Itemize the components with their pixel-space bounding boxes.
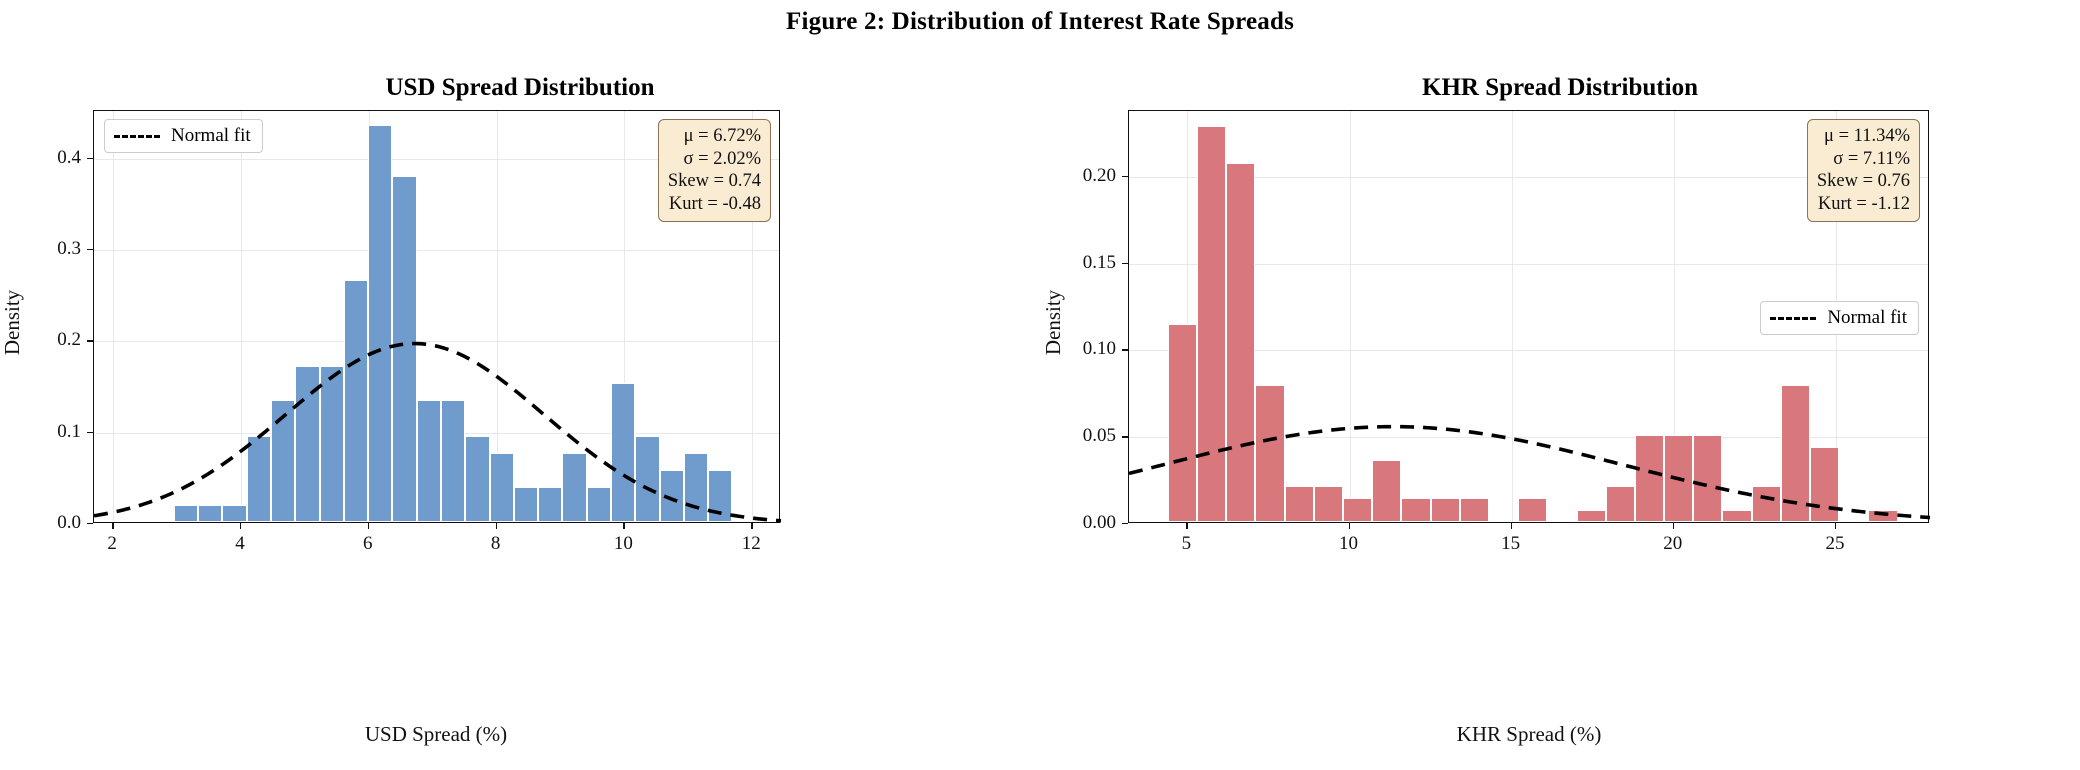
yaxis-tick-mark [1122,176,1128,177]
yaxis-tick-mark [1122,523,1128,524]
xaxis-tick-mark [1673,523,1674,529]
yaxis-label-usd: Density [0,290,25,355]
xaxis-tick-label: 20 [1663,533,1682,555]
yaxis-tick-mark [87,340,93,341]
yaxis-tick-label: 0.15 [1046,252,1116,274]
normal-fit-path [94,344,781,521]
stats-box-khr: μ = 11.34% σ = 7.11% Skew = 0.76 Kurt = … [1807,119,1920,222]
yaxis-tick-mark [87,158,93,159]
xaxis-tick-mark [1511,523,1512,529]
xaxis-tick-mark [240,523,241,529]
normal-fit-path [1129,427,1930,518]
stat-kurt: Kurt = -1.12 [1817,193,1910,216]
xaxis-tick-mark [751,523,752,529]
figure-canvas: Figure 2: Distribution of Interest Rate … [0,0,2080,770]
xaxis-label-khr: KHR Spread (%) [1457,722,1602,747]
xaxis-tick-label: 15 [1501,533,1520,555]
xaxis-label-usd: USD Spread (%) [365,722,507,747]
stat-skew: Skew = 0.76 [1817,170,1910,193]
axes-khr: Normal fit μ = 11.34% σ = 7.11% Skew = 0… [1128,110,1929,523]
legend-label: Normal fit [171,125,251,147]
xaxis-tick-mark [1835,523,1836,529]
stats-box-usd: μ = 6.72% σ = 2.02% Skew = 0.74 Kurt = -… [658,119,771,222]
yaxis-tick-label: 0.00 [1046,512,1116,534]
xaxis-tick-mark [1186,523,1187,529]
yaxis-tick-mark [1122,263,1128,264]
legend-khr[interactable]: Normal fit [1760,301,1919,335]
xaxis-tick-label: 4 [235,533,245,555]
yaxis-tick-label: 0.3 [11,238,81,260]
yaxis-tick-label: 0.20 [1046,165,1116,187]
legend-label: Normal fit [1827,307,1907,329]
stat-mu: μ = 11.34% [1817,125,1910,148]
xaxis-tick-label: 2 [107,533,117,555]
legend-dash-icon [114,135,160,138]
yaxis-tick-label: 0.4 [11,147,81,169]
xaxis-tick-label: 6 [363,533,373,555]
yaxis-tick-mark [1122,349,1128,350]
axes-usd: Normal fit μ = 6.72% σ = 2.02% Skew = 0.… [93,110,780,523]
panel-usd-title: USD Spread Distribution [0,74,1040,102]
legend-usd[interactable]: Normal fit [104,119,263,153]
xaxis-tick-label: 12 [742,533,761,555]
panel-khr-title: KHR Spread Distribution [1040,74,2080,102]
xaxis-tick-label: 5 [1182,533,1192,555]
yaxis-tick-label: 0.0 [11,512,81,534]
stat-sigma: σ = 7.11% [1817,148,1910,171]
xaxis-tick-mark [368,523,369,529]
xaxis-tick-label: 25 [1825,533,1844,555]
xaxis-tick-label: 10 [1339,533,1358,555]
yaxis-tick-mark [87,249,93,250]
yaxis-tick-label: 0.1 [11,421,81,443]
xaxis-tick-mark [496,523,497,529]
yaxis-tick-mark [1122,436,1128,437]
xaxis-tick-mark [112,523,113,529]
stat-mu: μ = 6.72% [668,125,761,148]
yaxis-tick-label: 0.05 [1046,425,1116,447]
yaxis-tick-mark [87,432,93,433]
stat-sigma: σ = 2.02% [668,148,761,171]
yaxis-label-khr: Density [1041,290,1066,355]
stat-skew: Skew = 0.74 [668,170,761,193]
stat-kurt: Kurt = -0.48 [668,193,761,216]
legend-dash-icon [1770,317,1816,320]
xaxis-tick-mark [623,523,624,529]
xaxis-tick-mark [1349,523,1350,529]
xaxis-tick-label: 8 [491,533,501,555]
yaxis-tick-mark [87,523,93,524]
xaxis-tick-label: 10 [614,533,633,555]
